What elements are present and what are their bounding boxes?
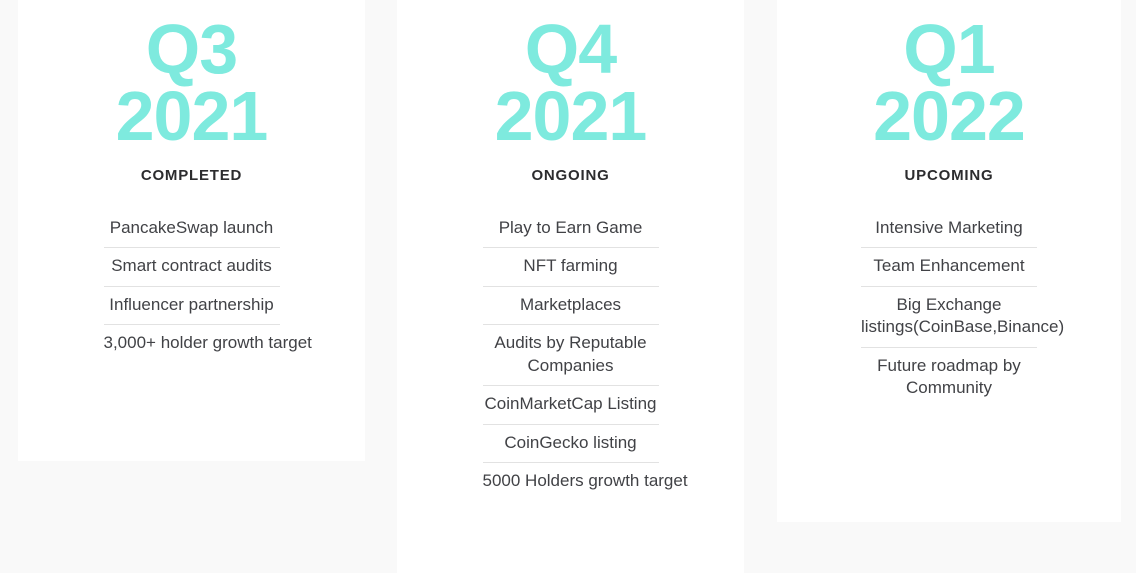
status-badge: UPCOMING <box>905 149 994 184</box>
list-item: Team Enhancement <box>861 248 1037 286</box>
quarter-heading: Q1 2022 <box>873 0 1025 149</box>
list-item: Marketplaces <box>483 287 659 325</box>
list-item: Intensive Marketing <box>861 210 1037 248</box>
milestone-list: PancakeSwap launch Smart contract audits… <box>104 184 280 363</box>
roadmap-section: Q3 2021 COMPLETED PancakeSwap launch Sma… <box>0 0 1136 573</box>
list-item: PancakeSwap launch <box>104 210 280 248</box>
list-item: NFT farming <box>483 248 659 286</box>
milestone-list: Play to Earn Game NFT farming Marketplac… <box>483 184 659 501</box>
list-item: Audits by Reputable Companies <box>483 325 659 386</box>
quarter-heading: Q3 2021 <box>116 0 268 149</box>
list-item: CoinMarketCap Listing <box>483 386 659 424</box>
quarter-heading: Q4 2021 <box>495 0 647 149</box>
milestone-list: Intensive Marketing Team Enhancement Big… <box>861 184 1037 408</box>
list-item: Influencer partnership <box>104 287 280 325</box>
year-label: 2021 <box>116 83 268 150</box>
year-label: 2021 <box>495 83 647 150</box>
status-badge: COMPLETED <box>141 149 242 184</box>
year-label: 2022 <box>873 83 1025 150</box>
roadmap-card-q4-2021: Q4 2021 ONGOING Play to Earn Game NFT fa… <box>397 0 744 573</box>
list-item: 3,000+ holder growth target <box>104 325 280 362</box>
list-item: Future roadmap by Community <box>861 348 1037 408</box>
roadmap-card-q1-2022: Q1 2022 UPCOMING Intensive Marketing Tea… <box>777 0 1121 522</box>
list-item: Play to Earn Game <box>483 210 659 248</box>
status-badge: ONGOING <box>531 149 609 184</box>
roadmap-card-q3-2021: Q3 2021 COMPLETED PancakeSwap launch Sma… <box>18 0 365 461</box>
list-item: Big Exchange listings(CoinBase,Binance) <box>861 287 1037 348</box>
list-item: Smart contract audits <box>104 248 280 286</box>
list-item: CoinGecko listing <box>483 425 659 463</box>
list-item: 5000 Holders growth target <box>483 463 659 500</box>
